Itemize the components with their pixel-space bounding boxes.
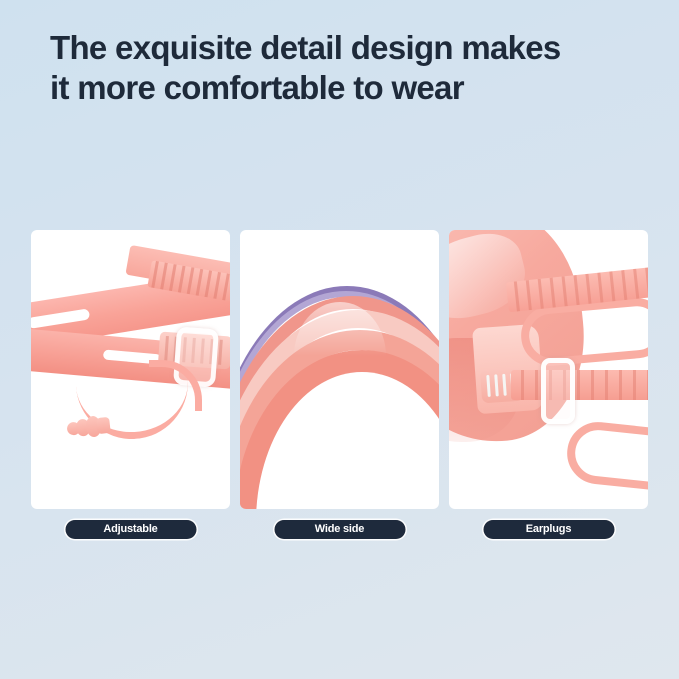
clear-slider-buckle	[541, 358, 575, 424]
feature-card-earplugs[interactable]: Earplugs	[449, 230, 648, 542]
page-headline: The exquisite detail design makes it mor…	[50, 28, 650, 108]
product-photo-adjustable	[31, 230, 230, 509]
nose-bridge-illustration	[240, 230, 439, 509]
product-photo-wide-side	[240, 230, 439, 509]
product-photo-earplugs	[449, 230, 648, 509]
goggle-strap-illustration	[31, 230, 230, 509]
product-feature-page: The exquisite detail design makes it mor…	[0, 0, 679, 679]
feature-card-row: Adjustable Wide side	[31, 230, 648, 542]
strap-loop-lower	[564, 419, 648, 495]
earplug	[66, 414, 112, 440]
feature-card-wide-side[interactable]: Wide side	[240, 230, 439, 542]
card-label-earplugs: Earplugs	[483, 520, 614, 539]
feature-card-adjustable[interactable]: Adjustable	[31, 230, 230, 542]
card-label-wide-side: Wide side	[274, 520, 405, 539]
card-label-adjustable: Adjustable	[65, 520, 196, 539]
strap-ribbed-lower	[511, 370, 648, 400]
goggle-side-illustration	[449, 230, 648, 509]
